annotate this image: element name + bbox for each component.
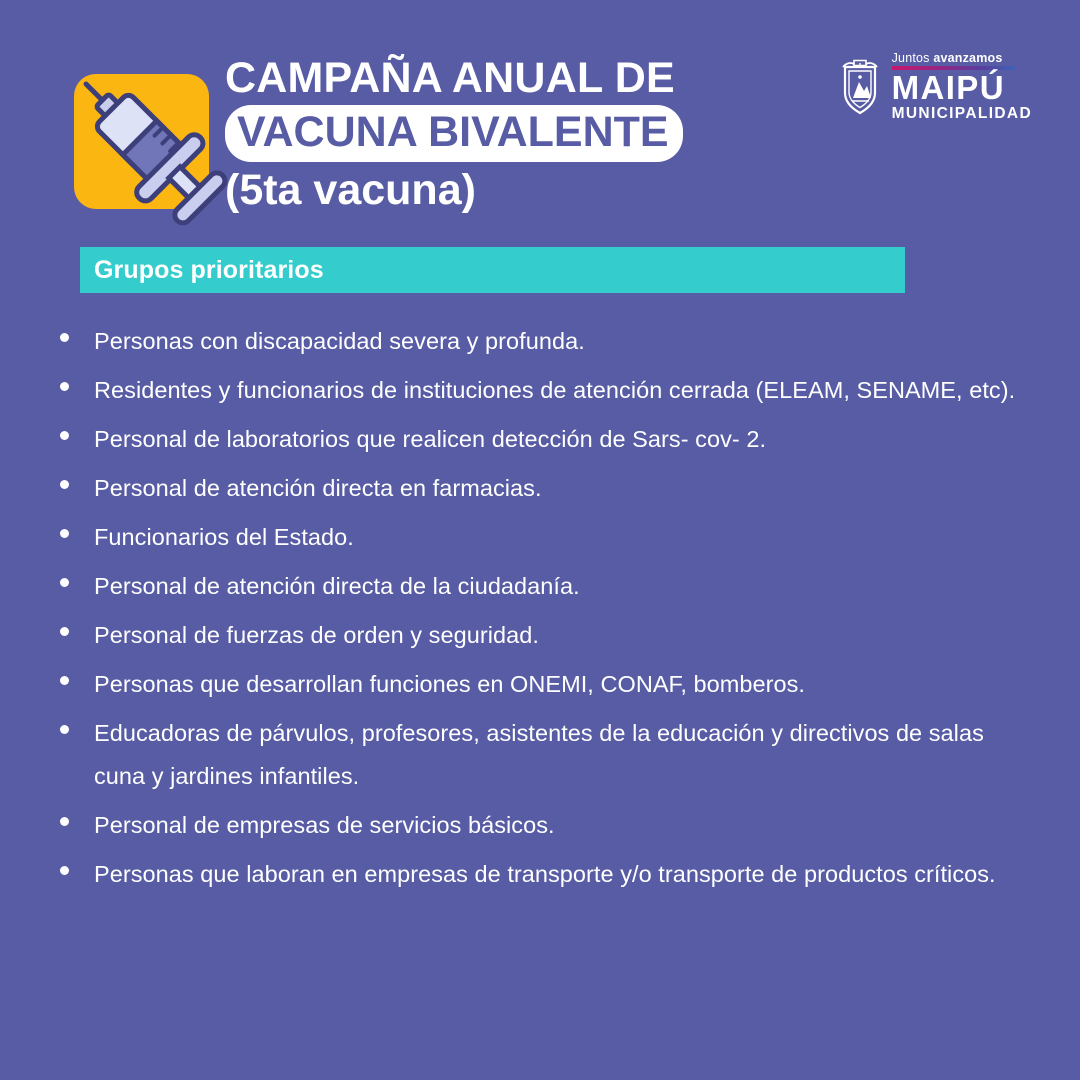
list-item-label: Educadoras de párvulos, profesores, asis… bbox=[94, 712, 1039, 798]
syringe-icon bbox=[52, 50, 236, 234]
logo-tagline-bold: avanzamos bbox=[933, 51, 1002, 65]
bullet-dot-icon bbox=[60, 529, 69, 538]
bullet-dot-icon bbox=[60, 627, 69, 636]
poster-title: CAMPAÑA ANUAL DE VACUNA BIVALENTE (5ta v… bbox=[225, 57, 785, 212]
list-item: Personal de empresas de servicios básico… bbox=[60, 804, 1050, 847]
list-item-label: Personas que laboran en empresas de tran… bbox=[94, 853, 996, 896]
list-item: Personal de laboratorios que realicen de… bbox=[60, 418, 1050, 461]
list-item-label: Personas que desarrollan funciones en ON… bbox=[94, 663, 805, 706]
list-item-label: Personal de atención directa en farmacia… bbox=[94, 467, 542, 510]
bullet-dot-icon bbox=[60, 817, 69, 826]
list-item: Personal de atención directa de la ciuda… bbox=[60, 565, 1050, 608]
list-item-label: Personal de empresas de servicios básico… bbox=[94, 804, 555, 847]
list-item-label: Funcionarios del Estado. bbox=[94, 516, 354, 559]
poster-header: CAMPAÑA ANUAL DE VACUNA BIVALENTE (5ta v… bbox=[0, 0, 1080, 240]
title-line-2-pill: VACUNA BIVALENTE bbox=[225, 105, 683, 162]
list-item: Personal de atención directa en farmacia… bbox=[60, 467, 1050, 510]
title-line-3: (5ta vacuna) bbox=[225, 169, 785, 212]
list-item-label: Personas con discapacidad severa y profu… bbox=[94, 320, 585, 363]
list-item: Personas que desarrollan funciones en ON… bbox=[60, 663, 1050, 706]
list-item: Personas que laboran en empresas de tran… bbox=[60, 853, 1050, 896]
maipu-coat-of-arms-icon bbox=[837, 58, 883, 116]
vaccine-badge bbox=[74, 62, 212, 212]
bullet-dot-icon bbox=[60, 431, 69, 440]
list-item-label: Personal de fuerzas de orden y seguridad… bbox=[94, 614, 539, 657]
bullet-dot-icon bbox=[60, 578, 69, 587]
bullet-dot-icon bbox=[60, 866, 69, 875]
list-item-label: Residentes y funcionarios de institucion… bbox=[94, 369, 1015, 412]
municipal-logo: Juntos avanzamos MAIPÚ MUNICIPALIDAD bbox=[837, 52, 1032, 123]
bullet-dot-icon bbox=[60, 333, 69, 342]
list-item: Personal de fuerzas de orden y seguridad… bbox=[60, 614, 1050, 657]
list-item: Residentes y funcionarios de institucion… bbox=[60, 369, 1050, 412]
list-item-label: Personal de atención directa de la ciuda… bbox=[94, 565, 580, 608]
bullet-dot-icon bbox=[60, 676, 69, 685]
logo-subtitle: MUNICIPALIDAD bbox=[892, 105, 1032, 123]
title-line-1: CAMPAÑA ANUAL DE bbox=[225, 57, 785, 100]
logo-tagline: Juntos avanzamos bbox=[892, 52, 1003, 65]
list-item: Funcionarios del Estado. bbox=[60, 516, 1050, 559]
logo-tagline-light: Juntos bbox=[892, 51, 930, 65]
logo-name: MAIPÚ bbox=[892, 72, 1005, 104]
section-banner-label: Grupos prioritarios bbox=[80, 256, 324, 285]
list-item: Personas con discapacidad severa y profu… bbox=[60, 320, 1050, 363]
bullet-dot-icon bbox=[60, 480, 69, 489]
priority-groups-list: Personas con discapacidad severa y profu… bbox=[60, 320, 1050, 902]
bullet-dot-icon bbox=[60, 725, 69, 734]
list-item: Educadoras de párvulos, profesores, asis… bbox=[60, 712, 1050, 798]
section-banner: Grupos prioritarios bbox=[80, 247, 905, 293]
list-item-label: Personal de laboratorios que realicen de… bbox=[94, 418, 766, 461]
bullet-dot-icon bbox=[60, 382, 69, 391]
